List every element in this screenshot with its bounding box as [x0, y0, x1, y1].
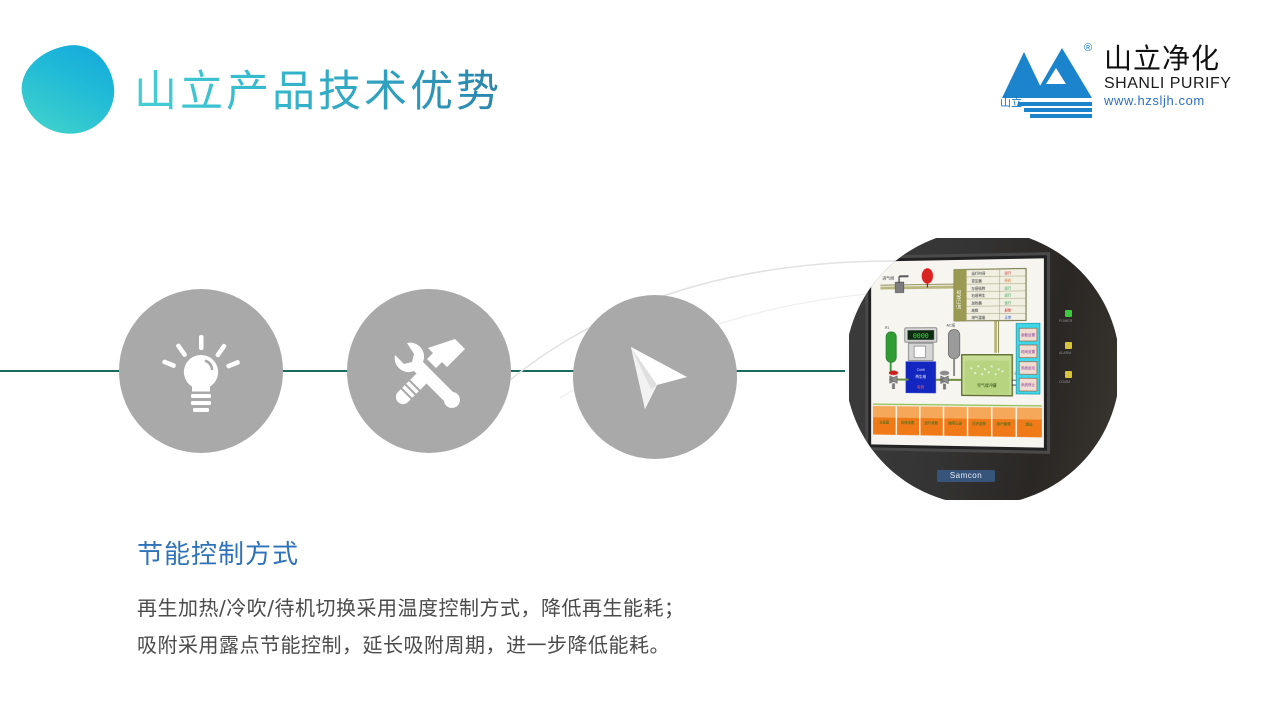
- svg-text:右塔再生: 右塔再生: [971, 293, 985, 298]
- svg-text:运行: 运行: [1004, 292, 1011, 297]
- led-power-label: POWER: [1059, 319, 1072, 323]
- svg-text:再生塔: 再生塔: [915, 374, 926, 379]
- hmi-screen[interactable]: 进气阀: [871, 258, 1044, 447]
- svg-text:A/C塔: A/C塔: [946, 323, 955, 328]
- svg-text:排气温度: 排气温度: [971, 315, 985, 320]
- svg-text:运行状态: 运行状态: [955, 290, 962, 310]
- svg-text:退出: 退出: [1025, 421, 1033, 426]
- svg-text:吸附: 吸附: [917, 384, 925, 389]
- feature-circle-tools[interactable]: [347, 289, 511, 453]
- feature-circle-cursor[interactable]: [573, 295, 737, 459]
- svg-text:故障: 故障: [971, 308, 979, 313]
- svg-text:R1: R1: [885, 326, 889, 330]
- slide-root: 山立产品技术优势 ® 山立 山立净化 SHANLI PURIFY www.hzs…: [0, 0, 1280, 720]
- svg-text:故障记录: 故障记录: [948, 420, 962, 425]
- led-alarm: [1065, 342, 1072, 349]
- logo-company-en: SHANLI PURIFY: [1104, 74, 1244, 93]
- logo-text-block: 山立净化 SHANLI PURIFY www.hzsljh.com: [1104, 44, 1244, 109]
- cursor-arrow-icon: [605, 327, 705, 427]
- svg-text:加热器: 加热器: [971, 300, 982, 305]
- header-blob-decoration: [16, 40, 119, 140]
- monitor-brand-label: Samcon: [937, 470, 995, 482]
- svg-text:停机: 停机: [1004, 278, 1011, 283]
- svg-text:系统启动: 系统启动: [1021, 365, 1036, 370]
- svg-text:运行: 运行: [1004, 285, 1011, 290]
- svg-text:运行: 运行: [1004, 300, 1011, 305]
- company-logo: ® 山立 山立净化 SHANLI PURIFY www.hzsljh.com: [1000, 38, 1220, 128]
- svg-text:用户管理: 用户管理: [996, 421, 1011, 426]
- svg-text:进气阀: 进气阀: [882, 274, 894, 280]
- svg-text:Conti: Conti: [917, 368, 925, 372]
- led-comm: [1065, 371, 1072, 378]
- hmi-process-diagram: 进气阀: [871, 258, 1044, 447]
- hmi-photo-circle: 进气阀: [845, 230, 1120, 505]
- svg-text:运行时间: 运行时间: [971, 271, 985, 276]
- tools-icon: [379, 321, 479, 421]
- hmi-screen-bezel: 进气阀: [865, 252, 1050, 454]
- logo-company-cn: 山立净化: [1104, 44, 1244, 74]
- logo-mark-label: 山立: [1000, 94, 1022, 110]
- svg-text:主画面: 主画面: [879, 419, 890, 424]
- svg-text:空气缓冲罐: 空气缓冲罐: [977, 383, 997, 388]
- svg-text:运行参数: 运行参数: [924, 420, 938, 425]
- svg-text:正常: 正常: [1004, 315, 1011, 320]
- page-title: 山立产品技术优势: [134, 62, 502, 122]
- svg-text:系统设置: 系统设置: [901, 420, 915, 425]
- svg-text:0000: 0000: [913, 332, 929, 340]
- body-line-2: 吸附采用露点节能控制，延长吸附周期，进一步降低能耗。: [137, 630, 670, 660]
- svg-text:历史趋势: 历史趋势: [972, 420, 986, 425]
- logo-website: www.hzsljh.com: [1104, 93, 1244, 109]
- svg-text:运行: 运行: [1004, 270, 1011, 275]
- lightbulb-icon: [153, 323, 249, 419]
- led-power: [1065, 310, 1072, 317]
- svg-text:报警: 报警: [1004, 307, 1011, 312]
- led-comm-label: COMM: [1059, 380, 1070, 384]
- svg-text:左塔吸附: 左塔吸附: [971, 285, 985, 290]
- svg-text:系统停止: 系统停止: [1021, 382, 1036, 387]
- registered-mark: ®: [1084, 42, 1092, 54]
- body-heading: 节能控制方式: [137, 537, 299, 573]
- hmi-monitor: 进气阀: [849, 238, 1117, 500]
- svg-text:变压器: 变压器: [971, 278, 982, 283]
- feature-circle-innovation[interactable]: [119, 289, 283, 453]
- svg-text:时间设置: 时间设置: [1021, 349, 1036, 354]
- led-alarm-label: ALARM: [1059, 351, 1071, 355]
- body-line-1: 再生加热/冷吹/待机切换采用温度控制方式，降低再生能耗；: [137, 593, 684, 623]
- svg-text:参数设置: 参数设置: [1021, 332, 1036, 337]
